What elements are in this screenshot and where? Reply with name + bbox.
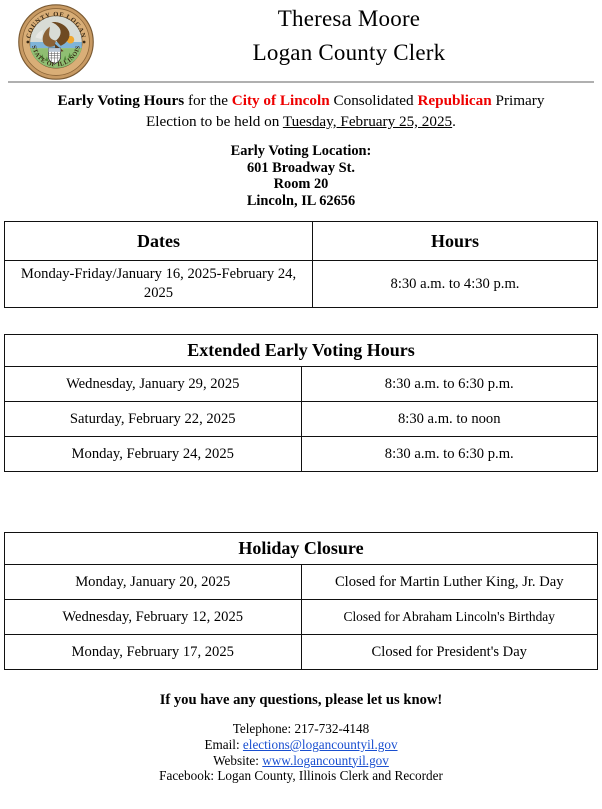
intro-city-of-lincoln: City of Lincoln	[232, 92, 330, 109]
website-link[interactable]: www.logancountyil.gov	[262, 753, 389, 768]
table-row: Monday, January 20, 2025 Closed for Mart…	[5, 565, 598, 600]
table-row: Wednesday, February 12, 2025 Closed for …	[5, 600, 598, 635]
email-label: Email:	[204, 737, 242, 752]
table-header-row: Extended Early Voting Hours	[5, 335, 598, 367]
table-row: Wednesday, January 29, 2025 8:30 a.m. to…	[5, 367, 598, 402]
cell-date: Wednesday, February 12, 2025	[5, 600, 302, 635]
intro-republican: Republican	[417, 92, 491, 109]
intro-early-voting-hours: Early Voting Hours	[58, 92, 185, 109]
cell-date: Monday, February 24, 2025	[5, 437, 302, 472]
table-title-holiday-closure: Holiday Closure	[5, 533, 598, 565]
email-link[interactable]: elections@logancountyil.gov	[243, 737, 398, 752]
document-header: COUNTY OF LOGAN STATE OF ILLINOIS Theres…	[0, 0, 602, 82]
county-seal-icon: COUNTY OF LOGAN STATE OF ILLINOIS	[18, 4, 94, 80]
footer-email-line: Email: elections@logancountyil.gov	[0, 737, 602, 753]
table-header-row: Dates Hours	[5, 222, 598, 261]
early-voting-location-block: Early Voting Location: 601 Broadway St. …	[0, 143, 602, 209]
location-room: Room 20	[0, 176, 602, 193]
document-footer: If you have any questions, please let us…	[0, 691, 602, 783]
cell-hours: 8:30 a.m. to 6:30 p.m.	[301, 437, 598, 472]
cell-hours: 8:30 a.m. to 4:30 p.m.	[313, 261, 598, 308]
table-row: Monday, February 24, 2025 8:30 a.m. to 6…	[5, 437, 598, 472]
telephone-value: 217-732-4148	[294, 721, 369, 736]
cell-date: Saturday, February 22, 2025	[5, 402, 302, 437]
telephone-label: Telephone:	[233, 721, 295, 736]
cell-date: Wednesday, January 29, 2025	[5, 367, 302, 402]
intro-election-date: Tuesday, February 25, 2025	[283, 113, 452, 130]
cell-dates: Monday-Friday/January 16, 2025-February …	[5, 261, 313, 308]
cell-closure-reason: Closed for President's Day	[301, 635, 598, 670]
table-extended-early-voting-hours: Extended Early Voting Hours Wednesday, J…	[4, 334, 598, 472]
intro-paragraph: Early Voting Hours for the City of Linco…	[46, 90, 556, 132]
location-heading: Early Voting Location:	[0, 143, 602, 160]
location-street: 601 Broadway St.	[0, 160, 602, 177]
facebook-label: Facebook:	[159, 768, 217, 783]
column-header-hours: Hours	[313, 222, 598, 261]
footer-contact-block: Telephone: 217-732-4148 Email: elections…	[0, 721, 602, 783]
cell-date: Monday, February 17, 2025	[5, 635, 302, 670]
clerk-name: Theresa Moore	[104, 2, 594, 35]
footer-telephone-line: Telephone: 217-732-4148	[0, 721, 602, 737]
cell-closure-reason: Closed for Abraham Lincoln's Birthday	[301, 600, 598, 635]
table-row: Monday-Friday/January 16, 2025-February …	[5, 261, 598, 308]
column-header-dates: Dates	[5, 222, 313, 261]
intro-period: .	[452, 113, 456, 130]
cell-hours: 8:30 a.m. to noon	[301, 402, 598, 437]
header-divider	[8, 81, 594, 83]
intro-text-for-the: for the	[184, 92, 232, 109]
page-title: Logan County Clerk	[104, 35, 594, 70]
footer-website-line: Website: www.logancountyil.gov	[0, 753, 602, 769]
cell-closure-reason: Closed for Martin Luther King, Jr. Day	[301, 565, 598, 600]
website-label: Website:	[213, 753, 262, 768]
cell-hours: 8:30 a.m. to 6:30 p.m.	[301, 367, 598, 402]
table-row: Saturday, February 22, 2025 8:30 a.m. to…	[5, 402, 598, 437]
table-holiday-closure: Holiday Closure Monday, January 20, 2025…	[4, 532, 598, 670]
intro-text-consolidated: Consolidated	[330, 92, 418, 109]
footer-facebook-line: Facebook: Logan County, Illinois Clerk a…	[0, 768, 602, 784]
cell-date: Monday, January 20, 2025	[5, 565, 302, 600]
facebook-value: Logan County, Illinois Clerk and Recorde…	[217, 768, 442, 783]
header-titles: Theresa Moore Logan County Clerk	[104, 2, 594, 70]
table-title-extended-hours: Extended Early Voting Hours	[5, 335, 598, 367]
location-city-state-zip: Lincoln, IL 62656	[0, 193, 602, 210]
table-early-voting-hours: Dates Hours Monday-Friday/January 16, 20…	[4, 221, 598, 308]
table-header-row: Holiday Closure	[5, 533, 598, 565]
table-row: Monday, February 17, 2025 Closed for Pre…	[5, 635, 598, 670]
footer-heading: If you have any questions, please let us…	[0, 691, 602, 709]
